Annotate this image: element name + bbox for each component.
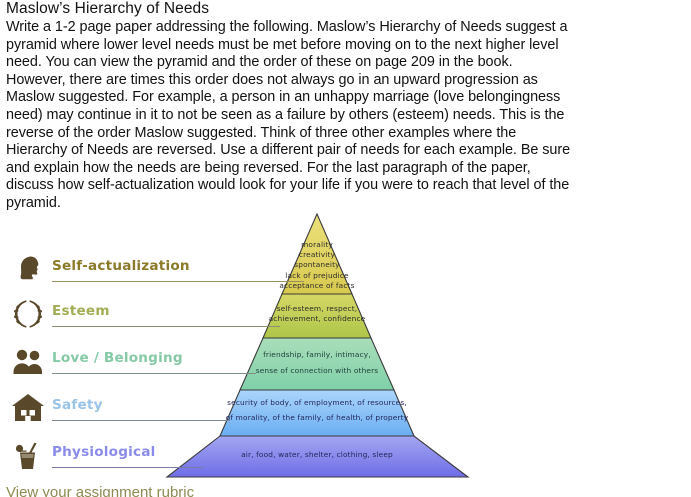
head-profile-icon xyxy=(10,252,46,286)
two-people-icon xyxy=(10,344,46,378)
legend-label-safety: Safety xyxy=(52,397,103,413)
legend-rule-self-actualization xyxy=(52,281,304,282)
house-icon xyxy=(10,391,46,425)
maslow-pyramid-figure: morality creativity spontaneity lack of … xyxy=(0,207,691,485)
assignment-line: Write a 1-2 page paper addressing the fo… xyxy=(6,19,688,37)
assignment-body: Write a 1-2 page paper addressing the fo… xyxy=(6,19,688,213)
laurel-wreath-icon xyxy=(10,297,46,331)
pyramid-tier-love-belonging xyxy=(240,338,394,390)
legend-rule-love-belonging xyxy=(52,373,256,374)
assignment-line: discuss how self-actualization would loo… xyxy=(6,177,688,195)
assignment-line: Maslow suggested. For example, a person … xyxy=(6,89,688,107)
legend-label-esteem: Esteem xyxy=(52,303,110,319)
legend-row-physiological[interactable]: Physiological xyxy=(0,438,220,472)
legend-label-love-belonging: Love / Belonging xyxy=(52,350,183,366)
page-title: Maslow’s Hierarchy of Needs xyxy=(6,0,688,18)
legend-row-safety[interactable]: Safety xyxy=(0,391,240,425)
legend-row-esteem[interactable]: Esteem xyxy=(0,297,280,331)
legend-label-physiological: Physiological xyxy=(52,444,155,460)
legend-row-self-actualization[interactable]: Self-actualization xyxy=(0,252,300,286)
assignment-line: reverse of the order Maslow suggested. T… xyxy=(6,125,688,143)
assignment-line: pyramid where lower level needs must be … xyxy=(6,37,688,55)
assignment-line: Hierarchy of Needs are reversed. Use a d… xyxy=(6,142,688,160)
legend-rule-safety xyxy=(52,420,230,421)
view-assignment-rubric-link[interactable]: View your assignment rubric xyxy=(6,484,194,497)
assignment-line: However, there are times this order does… xyxy=(6,72,688,90)
legend-rule-esteem xyxy=(52,326,280,327)
pyramid-tier-safety xyxy=(220,390,414,436)
assignment-line: need) may continue in it to not be seen … xyxy=(6,107,688,125)
assignment-text-block: Maslow’s Hierarchy of Needs Write a 1-2 … xyxy=(6,0,688,213)
assignment-line: need. You can view the pyramid and the o… xyxy=(6,54,688,72)
legend-row-love-belonging[interactable]: Love / Belonging xyxy=(0,344,260,378)
legend-label-self-actualization: Self-actualization xyxy=(52,258,190,274)
drink-glass-icon xyxy=(10,438,46,472)
assignment-line: and explain how the needs are being reve… xyxy=(6,160,688,178)
legend-rule-physiological xyxy=(52,467,204,468)
